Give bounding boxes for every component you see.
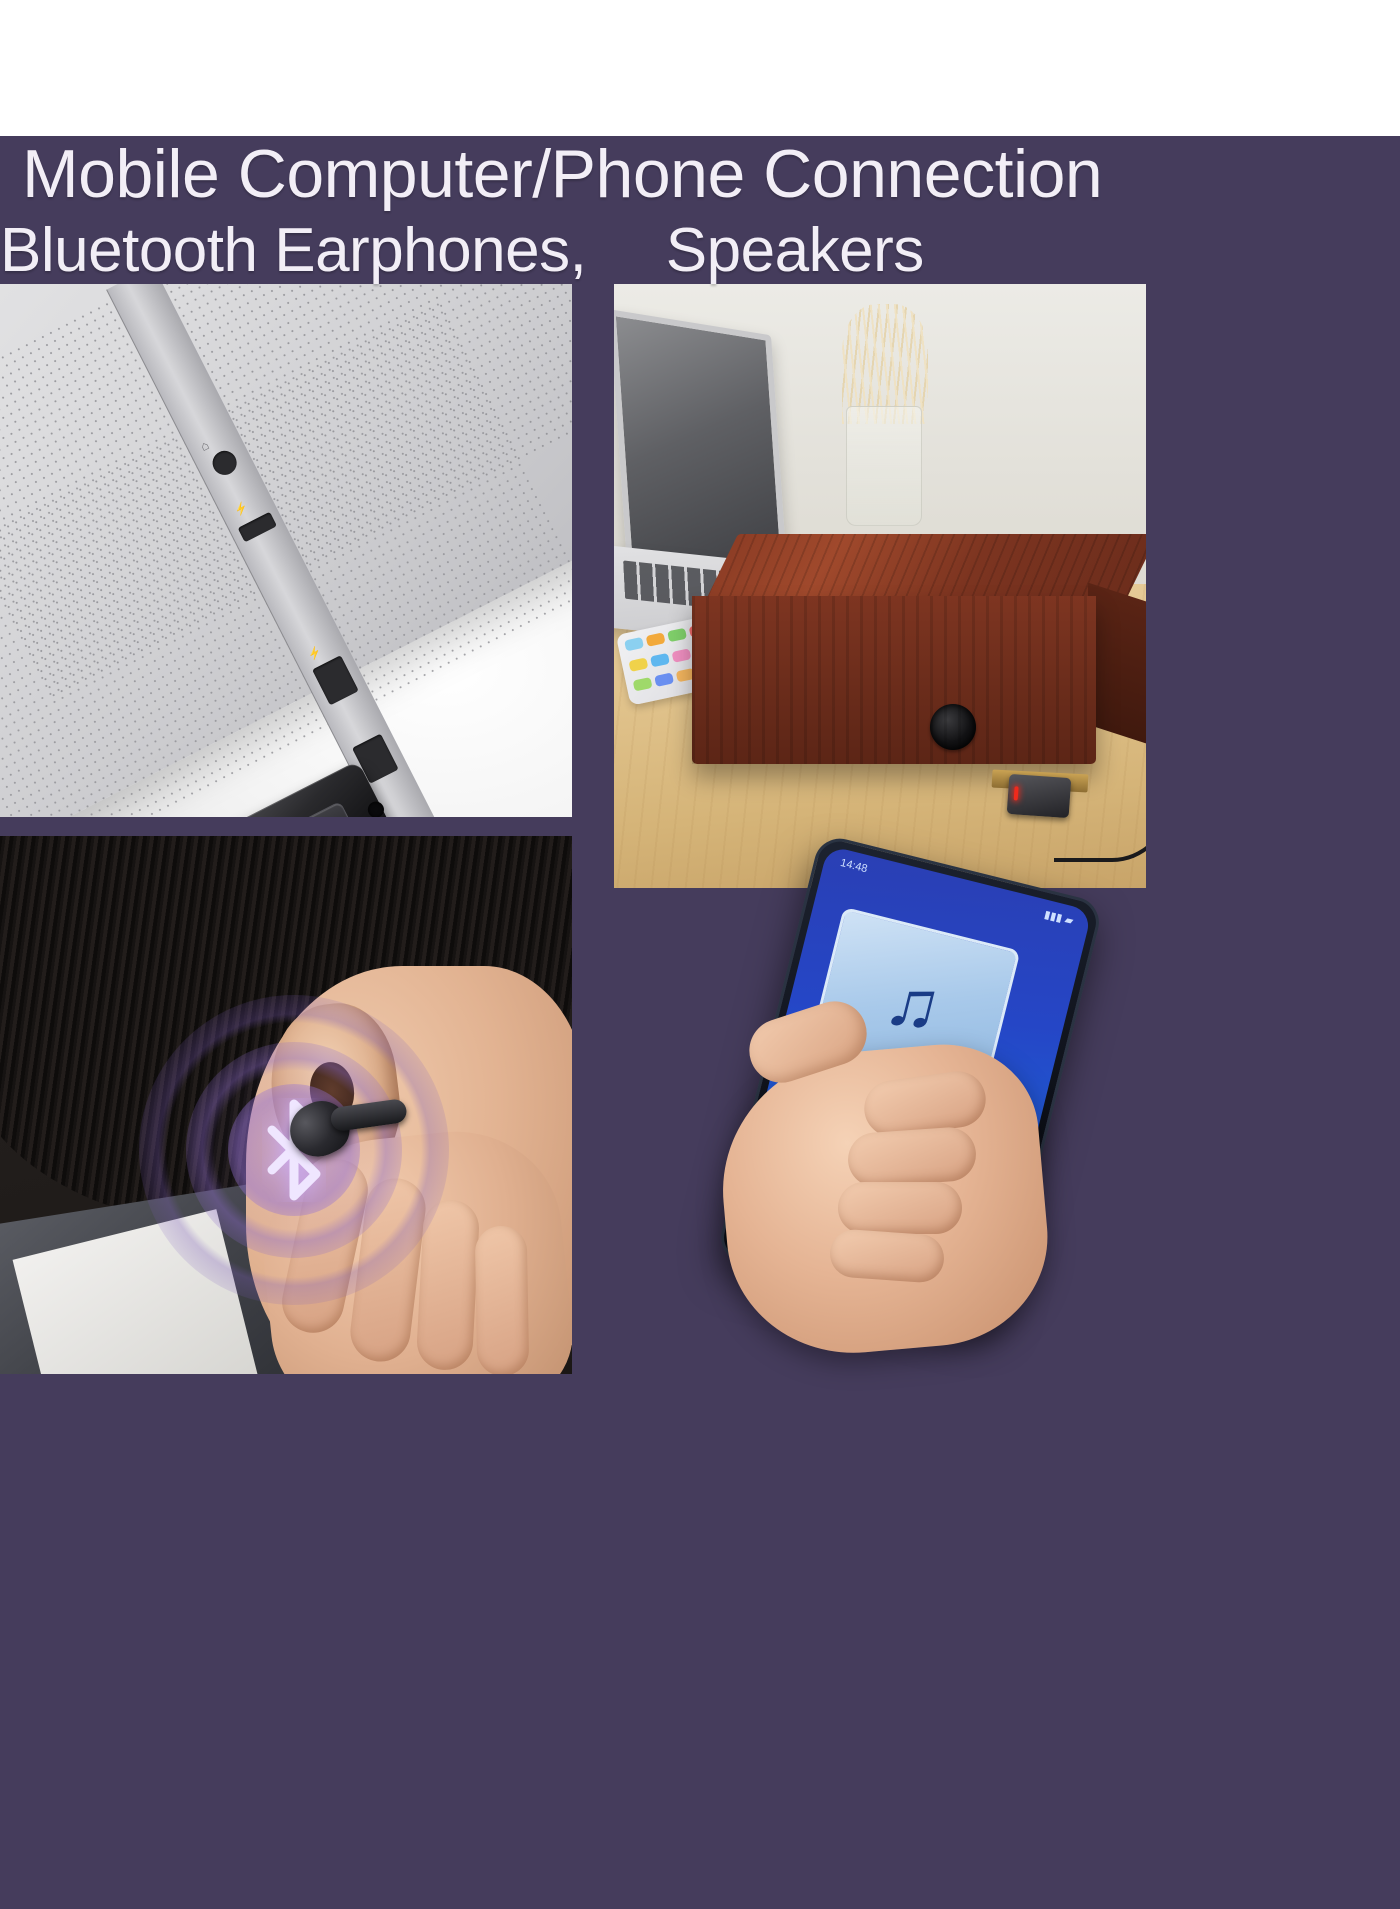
panel-laptop-dongle: caps lock tab ⌂ ⚡ ⚡ xyxy=(0,284,572,817)
speaker-dongle-led xyxy=(1014,786,1019,800)
speaker-side-face xyxy=(1088,583,1146,744)
panel-bluetooth-earphone xyxy=(0,836,572,1374)
app-icon xyxy=(650,653,670,668)
usb-port-icon: ⚡ xyxy=(232,500,250,518)
thunderbolt-port xyxy=(312,655,359,705)
speaker-front-face xyxy=(692,596,1096,764)
panel-wooden-speaker xyxy=(614,284,1146,888)
music-note-icon: ♫ xyxy=(879,962,949,1045)
app-icon xyxy=(628,657,648,672)
app-icon xyxy=(654,673,674,688)
app-icon xyxy=(671,648,691,663)
status-bar-time: 14:48 xyxy=(839,857,869,876)
ring-finger xyxy=(416,1199,481,1372)
little-finger xyxy=(475,1226,530,1374)
dongle-pairing-button xyxy=(296,801,359,817)
thunderbolt-icon: ⚡ xyxy=(306,644,324,662)
speaker-driver-port xyxy=(930,704,976,750)
app-icon xyxy=(646,632,666,647)
status-bar-indicators: ▮▮▮ ▰ xyxy=(1043,908,1075,928)
glass-jar xyxy=(846,406,922,526)
usb-port xyxy=(238,512,277,543)
app-icon xyxy=(633,677,653,692)
panel-phone-music-player: 14:48 ▮▮▮ ▰ ♫ Within Like The First Time… xyxy=(742,862,1162,1332)
phone-middle-finger xyxy=(846,1126,977,1189)
headphone-jack-port xyxy=(208,447,240,479)
app-icon xyxy=(624,637,644,652)
phone-ring-finger xyxy=(838,1182,962,1234)
audio-cable xyxy=(1054,792,1146,862)
product-feature-image: Mobile Computer/Phone Connection Bluetoo… xyxy=(0,0,1400,1909)
wooden-bluetooth-speaker xyxy=(710,534,1146,786)
phone-little-finger xyxy=(828,1228,945,1284)
earbud-stem xyxy=(329,1098,408,1132)
headphone-jack-icon: ⌂ xyxy=(198,437,212,454)
app-icon xyxy=(667,628,687,643)
